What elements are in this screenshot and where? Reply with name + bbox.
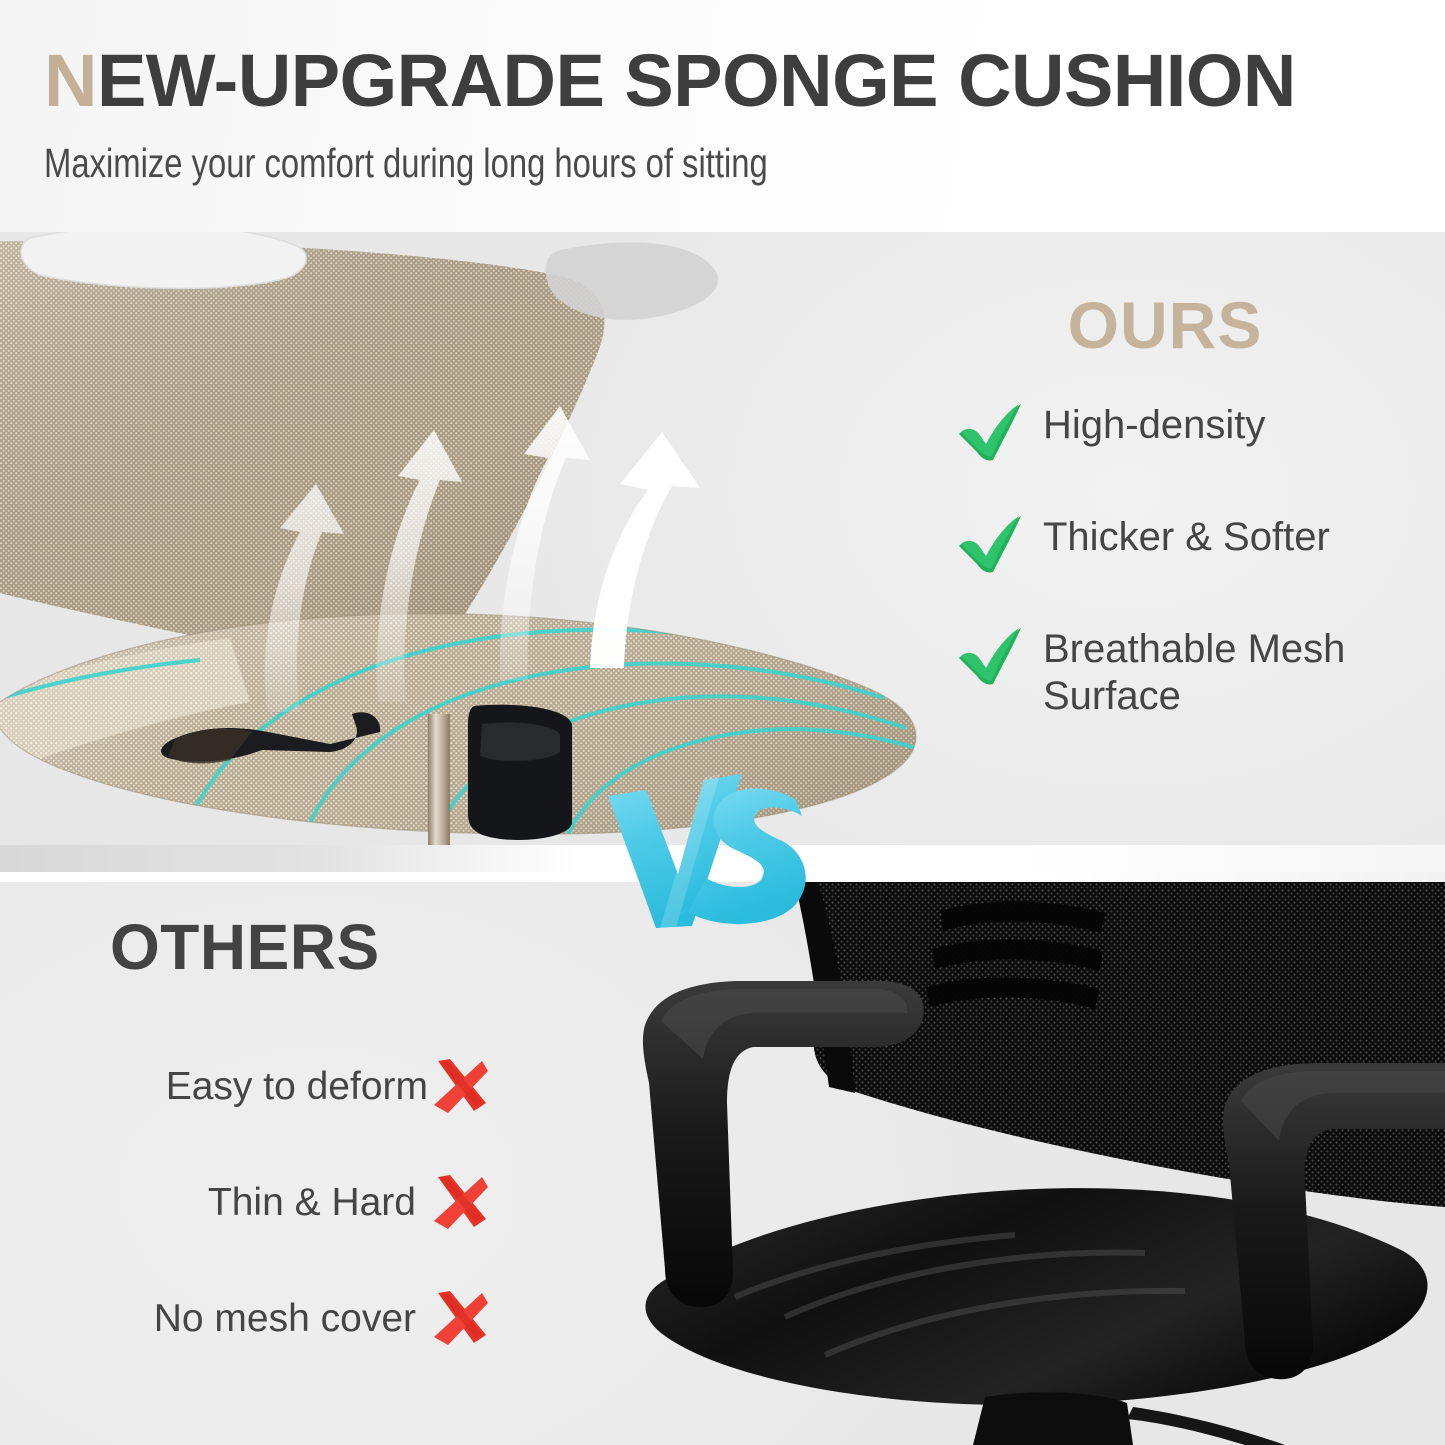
product-infographic: NEW-UPGRADE SPONGE CUSHION Maximize your… [0,0,1445,1445]
header-banner: NEW-UPGRADE SPONGE CUSHION Maximize your… [0,0,1445,232]
others-heading: OTHERS [110,915,510,979]
others-list-item-label: No mesh cover [154,1297,416,1341]
red-cross-icon [432,1291,488,1347]
ours-list-item: High-density [955,400,1435,470]
others-chair-lumbar-ribs [927,901,1105,1009]
ours-list-item-label: Breathable Mesh Surface [1043,624,1433,720]
others-chair-base [973,1392,1133,1445]
red-cross-icon [432,1175,488,1231]
page-title: NEW-UPGRADE SPONGE CUSHION [44,44,1445,118]
page-title-rest: EW-UPGRADE SPONGE CUSHION [97,39,1296,122]
ours-list-item: Thicker & Softer [955,512,1435,582]
others-list-item-label: Easy to deform [166,1065,428,1109]
others-chair-base-arm [1127,1407,1285,1445]
others-list-item: No mesh cover [20,1291,510,1347]
green-check-icon [955,514,1027,574]
ours-list-item-label: Thicker & Softer [1043,512,1330,561]
vs-logo-icon [600,770,820,930]
others-chair-backrest [785,877,1445,1237]
page-subtitle: Maximize your comfort during long hours … [44,140,1165,187]
page-title-lead-letter: N [44,39,97,122]
others-list-item: Thin & Hard [20,1175,510,1231]
green-check-icon [955,402,1027,462]
ours-list-item-label: High-density [1043,400,1265,449]
ours-list-item: Breathable Mesh Surface [955,624,1435,720]
green-check-icon [955,626,1027,686]
others-chair-image [585,877,1445,1445]
red-cross-icon [432,1059,488,1115]
others-list-item: Easy to deform [20,1059,510,1115]
others-list-item-label: Thin & Hard [208,1181,416,1225]
ours-feature-list: OURS High-density Thicker & Softer Breat… [955,292,1435,762]
ours-heading: OURS [1015,292,1315,358]
others-feature-list: OTHERS Easy to deform Thin & Hard No mes… [20,915,510,1407]
vs-badge [600,770,820,930]
